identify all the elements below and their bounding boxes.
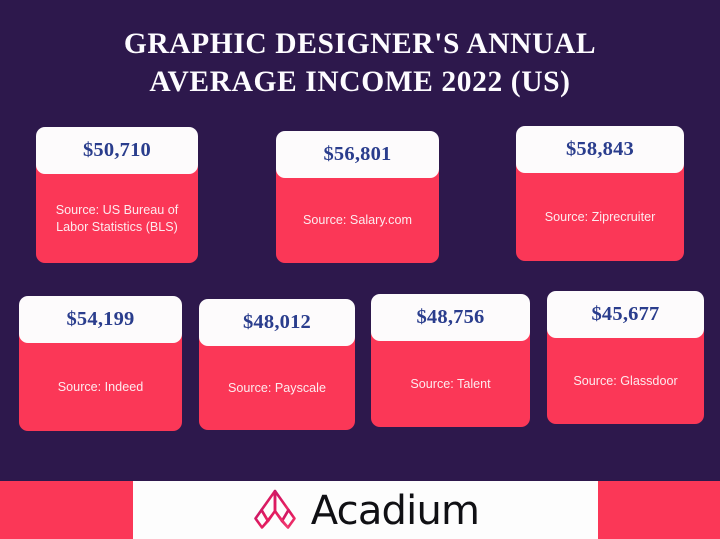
page-title-line-2: Average Income 2022 (US) bbox=[40, 64, 680, 102]
income-source-label: Source: Indeed bbox=[50, 379, 151, 396]
income-amount: $58,843 bbox=[566, 138, 634, 161]
income-card-ziprecruiter-header: $58,843 bbox=[516, 126, 684, 173]
footer-brand: Acadium bbox=[133, 481, 598, 539]
income-card-indeed: $54,199 Source: Indeed bbox=[19, 296, 182, 431]
income-card-payscale-body: Source: Payscale bbox=[199, 337, 355, 430]
income-card-salary: $56,801 Source: Salary.com bbox=[276, 131, 439, 263]
income-source-label: Source: Salary.com bbox=[295, 212, 420, 229]
income-card-talent-body: Source: Talent bbox=[371, 332, 530, 427]
income-card-bls-body: Source: US Bureau of Labor Statistics (B… bbox=[36, 165, 198, 263]
income-card-talent-header: $48,756 bbox=[371, 294, 530, 341]
footer-accent-band-left bbox=[0, 481, 133, 539]
income-card-bls-header: $50,710 bbox=[36, 127, 198, 174]
income-amount: $48,756 bbox=[416, 306, 484, 329]
income-source-label: Source: Ziprecruiter bbox=[537, 209, 664, 226]
income-card-indeed-body: Source: Indeed bbox=[19, 334, 182, 431]
income-card-glassdoor: $45,677 Source: Glassdoor bbox=[547, 291, 704, 424]
income-card-payscale-header: $48,012 bbox=[199, 299, 355, 346]
income-amount: $54,199 bbox=[66, 308, 134, 331]
income-card-salary-body: Source: Salary.com bbox=[276, 169, 439, 263]
footer-bar: Acadium bbox=[0, 481, 720, 539]
income-source-label: Source: Talent bbox=[402, 376, 498, 393]
income-card-bls: $50,710 Source: US Bureau of Labor Stati… bbox=[36, 127, 198, 263]
income-source-label: Source: Glassdoor bbox=[565, 373, 685, 390]
income-card-glassdoor-header: $45,677 bbox=[547, 291, 704, 338]
income-card-ziprecruiter-body: Source: Ziprecruiter bbox=[516, 164, 684, 261]
income-card-indeed-header: $54,199 bbox=[19, 296, 182, 343]
income-source-label: Source: Payscale bbox=[220, 380, 334, 397]
income-card-salary-header: $56,801 bbox=[276, 131, 439, 178]
acadium-wordmark: Acadium bbox=[311, 491, 479, 531]
income-source-label: Source: US Bureau of Labor Statistics (B… bbox=[36, 202, 198, 235]
footer-accent-band-right bbox=[598, 481, 720, 539]
income-amount: $45,677 bbox=[591, 303, 659, 326]
income-card-ziprecruiter: $58,843 Source: Ziprecruiter bbox=[516, 126, 684, 261]
page-title-line-1: Graphic Designer's Annual bbox=[40, 26, 680, 64]
income-card-talent: $48,756 Source: Talent bbox=[371, 294, 530, 427]
acadium-diamond-logo-icon bbox=[252, 488, 298, 532]
page-title: Graphic Designer's Annual Average Income… bbox=[0, 26, 720, 102]
income-amount: $48,012 bbox=[243, 311, 311, 334]
income-amount: $50,710 bbox=[83, 139, 151, 162]
income-card-glassdoor-body: Source: Glassdoor bbox=[547, 329, 704, 424]
income-amount: $56,801 bbox=[323, 143, 391, 166]
income-card-payscale: $48,012 Source: Payscale bbox=[199, 299, 355, 430]
